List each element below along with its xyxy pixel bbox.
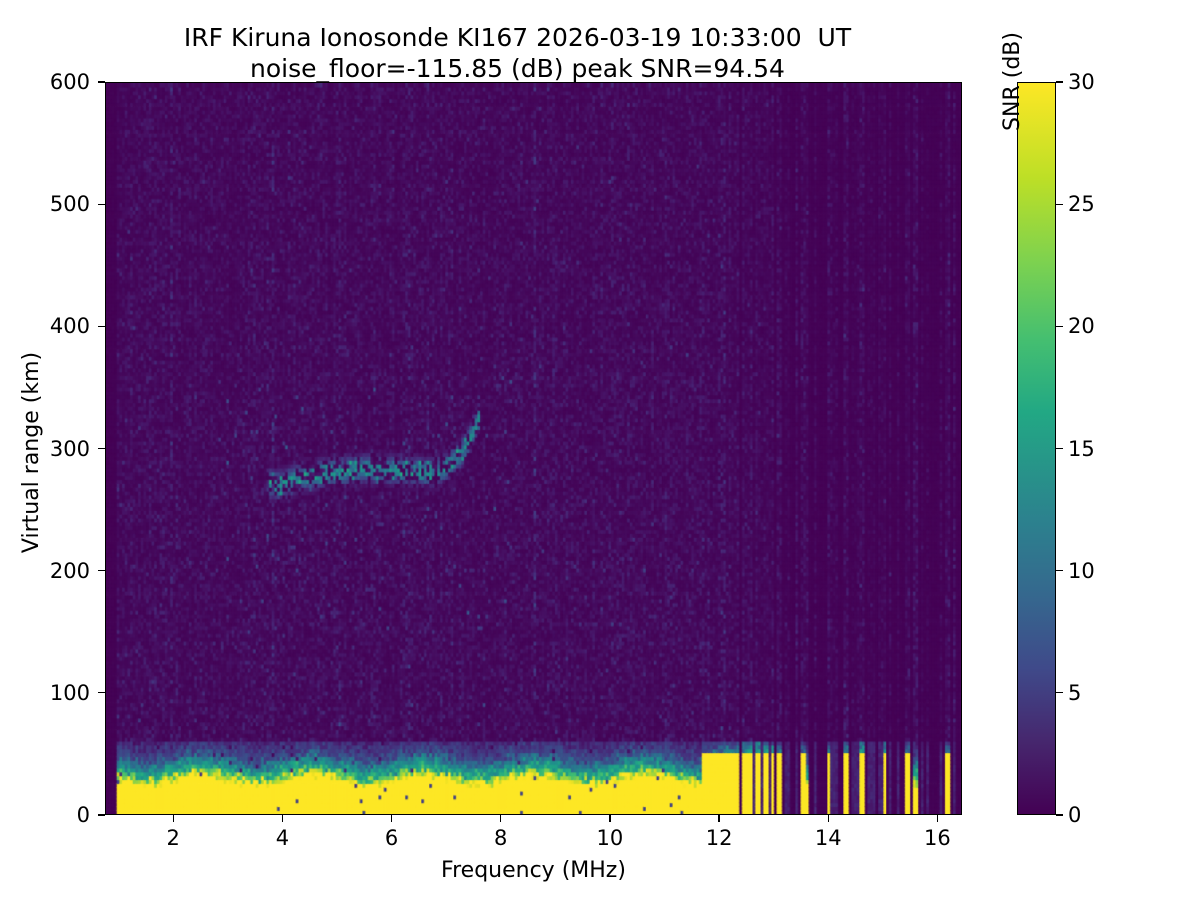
colorbar-tick-label: 10: [1068, 559, 1095, 583]
y-tick-label: 400: [0, 314, 90, 338]
y-tick-label: 300: [0, 437, 90, 461]
colorbar-tick-mark: [1056, 448, 1063, 449]
ionogram-heatmap: [106, 83, 961, 814]
colorbar-tick-mark: [1056, 326, 1063, 327]
x-tick-label: 14: [815, 826, 842, 850]
x-axis-label: Frequency (MHz): [105, 858, 962, 883]
y-tick-mark: [98, 692, 105, 693]
x-tick-label: 6: [385, 826, 398, 850]
y-tick-label: 200: [0, 559, 90, 583]
plot-axes[interactable]: [105, 82, 962, 815]
colorbar-tick-label: 0: [1068, 803, 1081, 827]
y-tick-label: 600: [0, 70, 90, 94]
x-tick-mark: [282, 815, 283, 822]
y-tick-label: 0: [0, 803, 90, 827]
x-tick-label: 16: [924, 826, 951, 850]
y-tick-label: 100: [0, 681, 90, 705]
x-tick-mark: [937, 815, 938, 822]
y-tick-mark: [98, 81, 105, 82]
y-tick-mark: [98, 326, 105, 327]
ionogram-figure: IRF Kiruna Ionosonde KI167 2026-03-19 10…: [0, 0, 1200, 900]
y-tick-mark: [98, 814, 105, 815]
colorbar-tick-label: 5: [1068, 681, 1081, 705]
colorbar-tick-label: 25: [1068, 192, 1095, 216]
colorbar-label: SNR (dB): [1000, 0, 1025, 448]
x-tick-label: 10: [597, 826, 624, 850]
colorbar-tick-label: 20: [1068, 314, 1095, 338]
figure-title: IRF Kiruna Ionosonde KI167 2026-03-19 10…: [0, 22, 1035, 84]
colorbar-tick-mark: [1056, 814, 1063, 815]
colorbar-tick-mark: [1056, 81, 1063, 82]
x-tick-label: 8: [494, 826, 507, 850]
colorbar-tick-mark: [1056, 570, 1063, 571]
x-tick-mark: [828, 815, 829, 822]
title-line-2: noise_floor=-115.85 (dB) peak SNR=94.54: [0, 53, 1035, 84]
colorbar-tick-label: 15: [1068, 437, 1095, 461]
x-tick-label: 12: [706, 826, 733, 850]
x-tick-mark: [500, 815, 501, 822]
y-tick-label: 500: [0, 192, 90, 216]
x-tick-mark: [173, 815, 174, 822]
y-tick-mark: [98, 570, 105, 571]
x-tick-mark: [391, 815, 392, 822]
y-tick-mark: [98, 204, 105, 205]
x-tick-mark: [609, 815, 610, 822]
colorbar-tick-mark: [1056, 692, 1063, 693]
title-line-1: IRF Kiruna Ionosonde KI167 2026-03-19 10…: [184, 23, 851, 52]
x-tick-mark: [718, 815, 719, 822]
x-tick-label: 2: [167, 826, 180, 850]
colorbar-tick-mark: [1056, 204, 1063, 205]
x-tick-label: 4: [276, 826, 289, 850]
colorbar-tick-label: 30: [1068, 70, 1095, 94]
y-tick-mark: [98, 448, 105, 449]
y-axis-label: Virtual range (km): [19, 86, 44, 819]
